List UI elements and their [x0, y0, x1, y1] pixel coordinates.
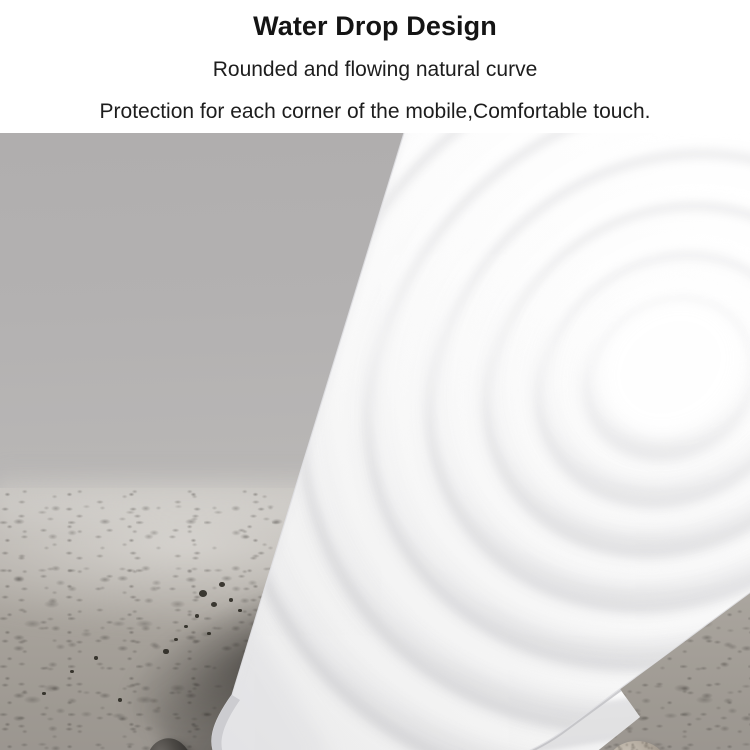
product-marketing-image: Water Drop Design Rounded and flowing na… — [0, 0, 750, 750]
case-top-face — [66, 133, 750, 750]
case-side-wall — [150, 653, 710, 750]
product-scene — [0, 133, 750, 750]
page-subtitle: Rounded and flowing natural curve — [0, 57, 750, 83]
header-text-block: Water Drop Design Rounded and flowing na… — [0, 0, 750, 133]
page-title: Water Drop Design — [0, 10, 750, 42]
page-tagline: Protection for each corner of the mobile… — [0, 99, 750, 125]
phone-case — [0, 133, 750, 750]
